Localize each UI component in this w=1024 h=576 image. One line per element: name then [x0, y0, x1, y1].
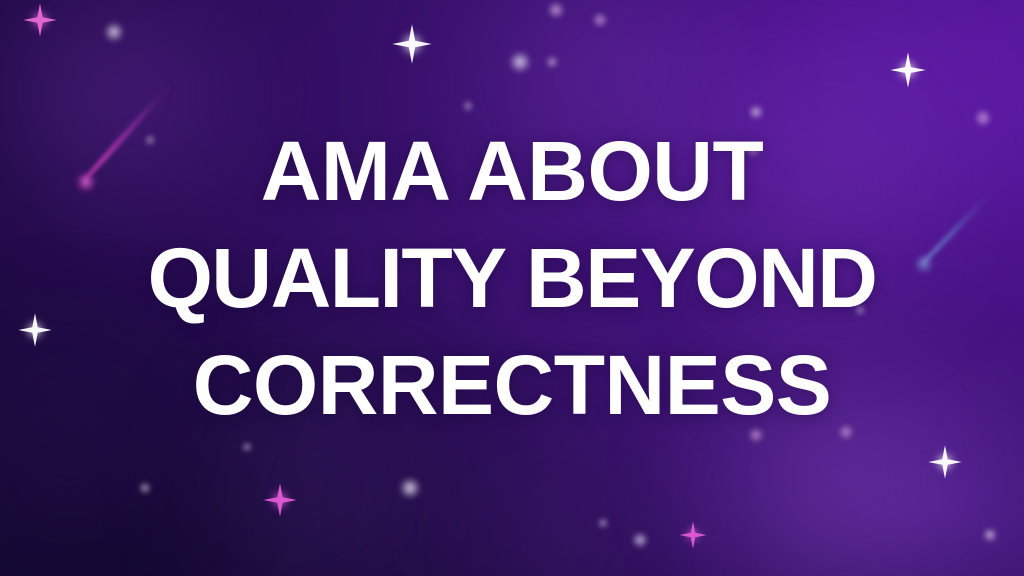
presentation-slide: AMA ABOUT QUALITY BEYOND CORRECTNESS [0, 0, 1024, 576]
background-tint-overlay [0, 0, 1024, 576]
blue-comet-head-icon [914, 254, 934, 274]
magenta-comet-head-icon [76, 172, 96, 192]
